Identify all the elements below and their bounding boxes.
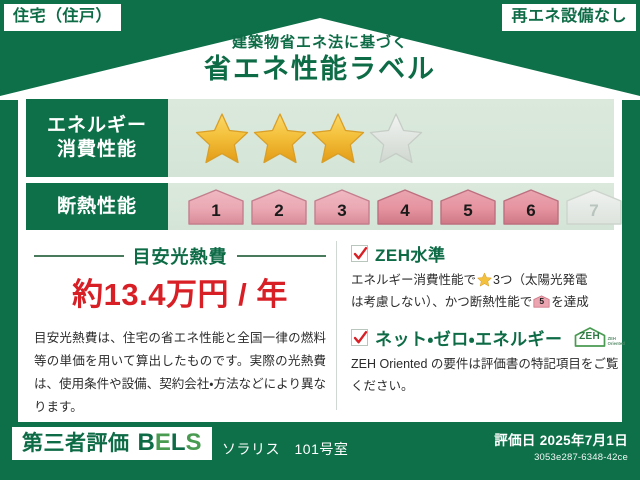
title-subtitle: 建築物省エネ法に基づく <box>0 34 640 52</box>
zeh-standard-block: ZEH水準 エネルギー消費性能で3つ（太陽光発電は考慮しない）、かつ断熱性能で5… <box>351 241 625 314</box>
evaluation-id: 3053e287-6348-42ce <box>494 452 628 463</box>
house-icon-inline-level: 5 <box>533 297 550 306</box>
insulation-level-value: 1 <box>186 202 246 219</box>
building-name: ソラリス 101号室 <box>222 439 348 459</box>
zeh-netzero-title-row: ネット・ゼロ・エネルギー ZEH ZEH Oriented <box>351 325 625 350</box>
zeh-desc-part2: は考慮しない）、かつ断熱性能で <box>351 295 532 309</box>
bels-letter-l: L <box>171 429 186 456</box>
bels-japanese-label: 第三者評価 <box>22 433 130 454</box>
badge-building-type: 住宅（住戸） <box>4 4 121 31</box>
star-icon-empty-4 <box>368 111 424 165</box>
checkbox-zeh-netzero[interactable] <box>351 329 368 346</box>
heading-rule-right <box>237 255 327 257</box>
star-icon-inline <box>477 272 492 287</box>
insulation-performance-value: 1 2 3 <box>168 183 638 230</box>
zeh-desc-part3: を達成 <box>551 295 589 309</box>
insulation-performance-row: 断熱性能 <box>26 183 614 230</box>
zeh-desc-part1: エネルギー消費性能で <box>351 273 476 287</box>
zeh-standard-title-row: ZEH水準 <box>351 241 625 266</box>
zeh-panel: ZEH水準 エネルギー消費性能で3つ（太陽光発電は考慮しない）、かつ断熱性能で5… <box>337 239 637 422</box>
insulation-level-value: 2 <box>249 202 309 219</box>
star-icon-filled-1 <box>194 111 250 165</box>
energy-performance-label-line2: 消費性能 <box>57 138 137 162</box>
star-icon-filled-3 <box>310 111 366 165</box>
bels-letter-b: B <box>138 429 155 456</box>
insulation-level-value: 4 <box>375 202 435 219</box>
insulation-level-value: 6 <box>501 202 561 219</box>
utility-cost-panel: 目安光熱費 約13.4万円 / 年 目安光熱費は、住宅の省エネ性能と全国一律の燃… <box>18 239 336 422</box>
insulation-house-7: 7 <box>564 188 624 226</box>
lower-section: 目安光熱費 約13.4万円 / 年 目安光熱費は、住宅の省エネ性能と全国一律の燃… <box>18 239 622 422</box>
energy-performance-label-line1: エネルギー <box>47 114 147 138</box>
insulation-level-value: 3 <box>312 202 372 219</box>
house-icon-inline-wrap: 5 <box>533 295 550 308</box>
insulation-house-5: 5 <box>438 188 498 226</box>
utility-cost-heading-text: 目安光熱費 <box>133 243 228 269</box>
energy-performance-row: エネルギー 消費性能 <box>26 99 614 177</box>
evaluation-date: 評価日 2025年7月1日 <box>494 432 628 450</box>
utility-cost-heading: 目安光熱費 <box>34 243 326 269</box>
insulation-house-3: 3 <box>312 188 372 226</box>
page-title: 省エネ性能ラベル <box>0 54 640 85</box>
zeh-logo: ZEH ZEH Oriented <box>573 326 625 348</box>
energy-performance-label: エネルギー 消費性能 <box>26 99 168 177</box>
insulation-performance-label: 断熱性能 <box>26 183 168 230</box>
zeh-netzero-description: ZEH Oriented の要件は評価書の特記項目をご覧ください。 <box>351 354 625 398</box>
insulation-house-4: 4 <box>375 188 435 226</box>
utility-cost-note: 目安光熱費は、住宅の省エネ性能と全国一律の燃料等の単価を用いて算出したものです。… <box>34 327 326 420</box>
star-rating <box>194 111 424 165</box>
bels-energy-label: 住宅（住戸） 再エネ設備なし 建築物省エネ法に基づく 省エネ性能ラベル エネルギ… <box>0 0 640 480</box>
energy-performance-value <box>168 99 614 177</box>
utility-cost-value: 約13.4万円 / 年 <box>34 278 326 312</box>
check-icon <box>353 330 368 346</box>
insulation-level-value: 7 <box>564 202 624 219</box>
zeh-standard-description: エネルギー消費性能で3つ（太陽光発電は考慮しない）、かつ断熱性能で5を達成 <box>351 270 625 314</box>
star-icon-filled-2 <box>252 111 308 165</box>
insulation-scale: 1 2 3 <box>186 188 624 226</box>
bels-letter-e: E <box>155 429 171 456</box>
zeh-netzero-title: ネット・ゼロ・エネルギー <box>375 325 563 350</box>
zeh-logo-sub-line2: Oriented <box>608 341 625 346</box>
insulation-level-value: 5 <box>438 202 498 219</box>
page-title-block: 建築物省エネ法に基づく 省エネ性能ラベル <box>0 34 640 85</box>
badge-renewable-equipment: 再エネ設備なし <box>502 4 636 31</box>
check-icon <box>353 246 368 262</box>
evaluation-info: 評価日 2025年7月1日 3053e287-6348-42ce <box>494 432 628 463</box>
zeh-desc-star-count: 3つ（太陽光発電 <box>493 273 587 287</box>
bels-letter-s: S <box>186 429 202 456</box>
main-card: エネルギー 消費性能 <box>18 92 622 422</box>
bels-badge: 第三者評価 BELS <box>12 427 212 460</box>
zeh-standard-title: ZEH水準 <box>375 241 446 266</box>
zeh-logo-text: ZEH <box>573 332 607 342</box>
insulation-house-1: 1 <box>186 188 246 226</box>
heading-rule-left <box>34 255 124 257</box>
insulation-house-6: 6 <box>501 188 561 226</box>
zeh-logo-subtext: ZEH Oriented <box>608 337 625 346</box>
footer: 第三者評価 BELS ソラリス 101号室 評価日 2025年7月1日 3053… <box>0 422 640 480</box>
zeh-netzero-block: ネット・ゼロ・エネルギー ZEH ZEH Oriented <box>351 325 625 398</box>
checkbox-zeh-standard[interactable] <box>351 245 368 262</box>
bels-logo: BELS <box>138 431 202 455</box>
insulation-house-2: 2 <box>249 188 309 226</box>
